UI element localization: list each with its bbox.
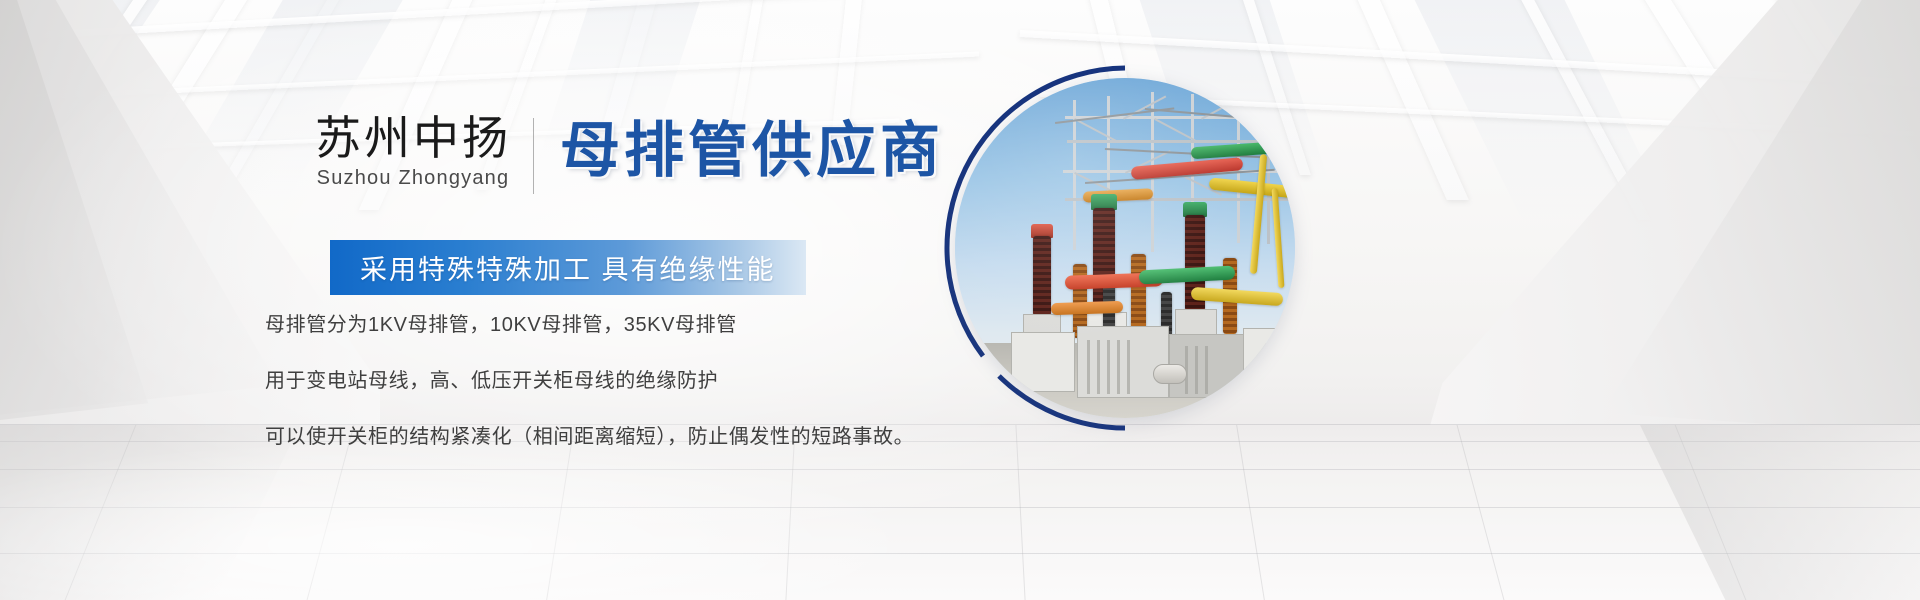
page-title: 母排管供应商: [560, 116, 944, 186]
logo-name-cn: 苏州中扬: [315, 112, 511, 164]
banner-content: 苏州中扬 Suzhou Zhongyang 母排管供应商 采用特殊特殊加工 具有…: [0, 0, 1920, 600]
description-line-1: 母排管分为1KV母排管，10KV母排管，35KV母排管: [265, 312, 914, 338]
company-logo: 苏州中扬 Suzhou Zhongyang: [315, 112, 533, 190]
description-line-3: 可以使开关柜的结构紧凑化（相间距离缩短），防止偶发性的短路事故。: [265, 424, 914, 450]
substation-photo: [955, 78, 1295, 418]
logo-divider: [533, 118, 534, 194]
description-line-2: 用于变电站母线，高、低压开关柜母线的绝缘防护: [265, 368, 914, 394]
hero-banner: 苏州中扬 Suzhou Zhongyang 母排管供应商 采用特殊特殊加工 具有…: [0, 0, 1920, 600]
feature-image: [955, 78, 1295, 418]
headline-row: 苏州中扬 Suzhou Zhongyang 母排管供应商: [315, 112, 944, 194]
tagline-text: 采用特殊特殊加工 具有绝缘性能: [360, 248, 776, 287]
tagline-bar: 采用特殊特殊加工 具有绝缘性能: [330, 240, 806, 295]
logo-name-en: Suzhou Zhongyang: [317, 166, 510, 190]
description-block: 母排管分为1KV母排管，10KV母排管，35KV母排管 用于变电站母线，高、低压…: [265, 312, 914, 450]
